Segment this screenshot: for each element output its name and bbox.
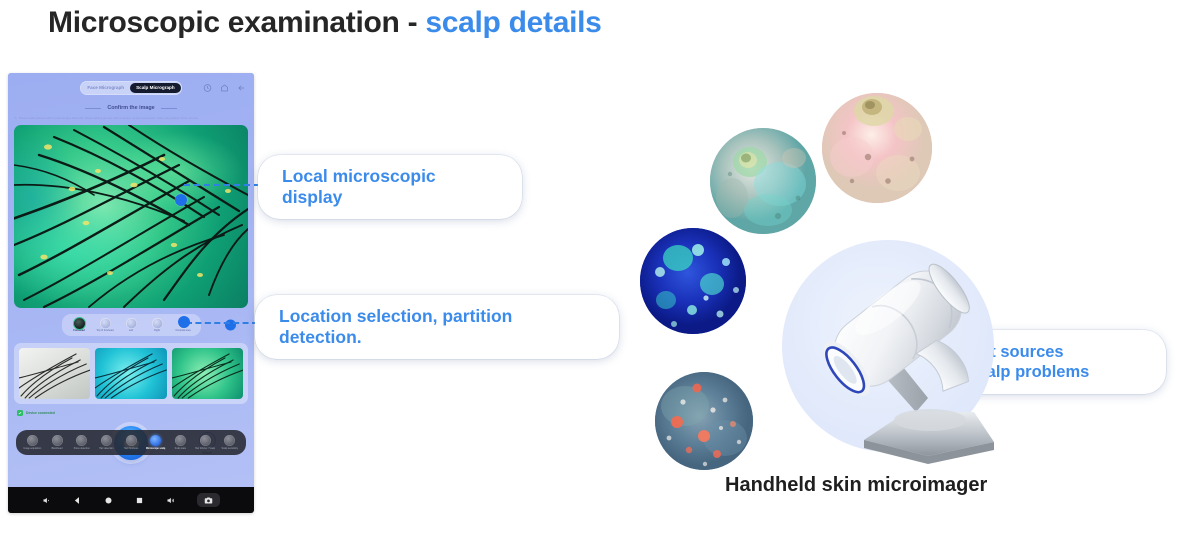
location-option-label: Left — [122, 330, 141, 333]
toolbar-item-hair-follicles[interactable]: Hair follicles / Scalp — [193, 435, 218, 451]
recents-square-icon[interactable] — [135, 496, 144, 505]
section-heading-row: Confirm the image — [8, 105, 254, 111]
tab-face-micrograph[interactable]: Face Micrograph — [81, 83, 130, 94]
volume-down-icon[interactable] — [42, 496, 51, 505]
section-heading: Confirm the image — [107, 105, 154, 111]
home-icon[interactable] — [220, 84, 229, 93]
toolbar-item-label: Hair follicles / Scalp — [193, 448, 218, 451]
location-option-label: Top of forehead — [96, 330, 115, 333]
toolbar-item-label: Hair thickness — [119, 448, 144, 451]
location-option-label: Occipital area — [174, 330, 193, 333]
toolbar-item-scalp-state[interactable]: Scalp state — [168, 435, 193, 451]
location-selector-wrap: Forehead Top of forehead Left Right — [8, 314, 254, 336]
thumbnail-green-light[interactable] — [172, 348, 243, 399]
heading-rule-left — [85, 108, 101, 109]
toolbar-icon — [126, 435, 137, 446]
toolbar-icon — [150, 435, 161, 446]
page-title-separator: - — [408, 6, 418, 39]
toolbar-item-label: Pores detection — [69, 448, 94, 451]
status-badge: Device connected — [26, 411, 55, 415]
thumbnail-hairs — [19, 348, 90, 399]
toolbar-item-label: Microscope scalp — [143, 448, 168, 451]
toolbar-item-label: Blackhead — [45, 448, 70, 451]
micrograph-circle-top-left — [710, 128, 816, 234]
slide-root: Microscopic examination - scalp details … — [0, 0, 1182, 556]
location-option-forehead[interactable]: Forehead — [70, 318, 89, 333]
connector-line-1 — [184, 184, 260, 186]
main-micrograph-preview[interactable] — [14, 125, 248, 308]
micrograph-texture — [640, 228, 746, 334]
thumbnail-white-light[interactable] — [19, 348, 90, 399]
micrograph-texture — [710, 128, 816, 234]
app-top-icons — [203, 84, 246, 93]
page-title-main: Microscopic examination — [48, 6, 400, 39]
location-thumb-icon — [100, 318, 111, 329]
location-option-left[interactable]: Left — [122, 318, 141, 333]
home-circle-icon[interactable] — [104, 496, 113, 505]
location-option-right[interactable]: Right — [148, 318, 167, 333]
micrograph-texture — [655, 372, 753, 470]
location-thumb-icon — [74, 318, 85, 329]
page-title-accent: scalp details — [425, 6, 601, 39]
thumbnail-strip — [14, 343, 248, 404]
thumbnail-hairs — [172, 348, 243, 399]
callout-text: Location selection, partition detection. — [279, 306, 512, 349]
toolbar-item-pores-detection[interactable]: Pores detection — [69, 435, 94, 451]
heading-rule-right — [161, 108, 177, 109]
android-navigation-bar[interactable] — [8, 487, 254, 513]
connector-dot-2 — [178, 316, 190, 328]
toolbar-icon — [101, 435, 112, 446]
toolbar-icon — [52, 435, 63, 446]
right-illustration — [600, 80, 1182, 520]
device-caption: Handheld skin microimager — [725, 474, 987, 497]
handheld-skin-microimager — [778, 230, 1008, 480]
toolbar-item-hair-detection[interactable]: Hair detection — [94, 435, 119, 451]
toolbar-item-label: Scalp state — [168, 448, 193, 451]
toolbar-item-label: Hair detection — [94, 448, 119, 451]
toolbar-icon — [175, 435, 186, 446]
thumbnail-hairs — [95, 348, 166, 399]
micrograph-texture — [822, 93, 932, 203]
history-icon[interactable] — [203, 84, 212, 93]
back-arrow-icon[interactable] — [237, 84, 246, 93]
toolbar-icon — [76, 435, 87, 446]
toolbar-item-microscope-scalp[interactable]: Microscope scalp — [143, 435, 168, 451]
tab-scalp-micrograph[interactable]: Scalp Micrograph — [130, 83, 181, 94]
toolbar-item-label: Scalp sensitivity — [217, 448, 242, 451]
toolbar-item-scalp-sensitivity[interactable]: Scalp sensitivity — [217, 435, 242, 451]
toolbar-icon — [200, 435, 211, 446]
tablet-device: Face Micrograph Scalp Micrograph — [8, 73, 254, 513]
tablet-screen: Face Micrograph Scalp Micrograph — [8, 73, 254, 487]
volume-up-icon[interactable] — [166, 496, 175, 505]
location-option-top-of-forehead[interactable]: Top of forehead — [96, 318, 115, 333]
hair-strands-illustration — [14, 125, 248, 308]
location-option-label: Forehead — [70, 330, 89, 333]
toolbar-item-blackhead[interactable]: Blackhead — [45, 435, 70, 451]
location-thumb-icon — [126, 318, 137, 329]
screenshot-camera-icon[interactable] — [197, 493, 220, 507]
micrograph-circle-bottom-left — [655, 372, 753, 470]
capture-hint-text: Please take photos with a microscope hel… — [14, 116, 248, 121]
device-status-row: Device connected — [17, 410, 254, 416]
micrograph-circle-top-right — [822, 93, 932, 203]
page-title: Microscopic examination - scalp details — [48, 6, 602, 40]
app-top-bar: Face Micrograph Scalp Micrograph — [8, 77, 254, 99]
toolbar-icon — [27, 435, 38, 446]
thumbnail-blue-light[interactable] — [95, 348, 166, 399]
status-check-icon — [17, 410, 23, 416]
toolbar-icon — [224, 435, 235, 446]
callout-location-selection: Location selection, partition detection. — [255, 295, 619, 359]
toolbar-item-image-acquisition[interactable]: Image acquisition — [20, 435, 45, 451]
location-option-label: Right — [148, 330, 167, 333]
location-thumb-icon — [152, 318, 163, 329]
toolbar-item-hair-thickness[interactable]: Hair thickness — [119, 435, 144, 451]
micrograph-circle-mid-left — [640, 228, 746, 334]
callout-local-microscopic-display: Local microscopic display — [258, 155, 522, 219]
device-illustration — [778, 230, 1008, 480]
toolbar-item-label: Image acquisition — [20, 448, 45, 451]
analysis-toolbar[interactable]: Image acquisition Blackhead Pores detect… — [16, 430, 246, 455]
back-triangle-icon[interactable] — [73, 496, 82, 505]
connector-line-2 — [186, 322, 258, 324]
callout-text: Local microscopic display — [282, 166, 436, 209]
micrograph-tab-group[interactable]: Face Micrograph Scalp Micrograph — [80, 81, 182, 95]
